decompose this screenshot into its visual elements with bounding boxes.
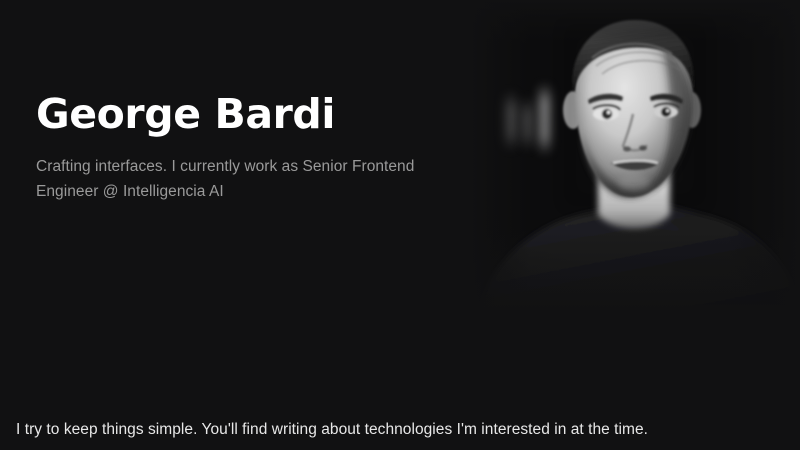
portrait-figure bbox=[470, 0, 800, 310]
hero-text-block: George Bardi Crafting interfaces. I curr… bbox=[36, 92, 436, 204]
portrait-photo bbox=[470, 0, 800, 310]
portrait-face bbox=[572, 20, 694, 198]
hero-section: George Bardi Crafting interfaces. I curr… bbox=[0, 0, 800, 330]
page-title: George Bardi bbox=[36, 92, 436, 138]
page-root: George Bardi Crafting interfaces. I curr… bbox=[0, 0, 800, 450]
intro-paragraph: I try to keep things simple. You'll find… bbox=[16, 419, 786, 441]
hero-subtitle: Crafting interfaces. I currently work as… bbox=[36, 154, 416, 204]
